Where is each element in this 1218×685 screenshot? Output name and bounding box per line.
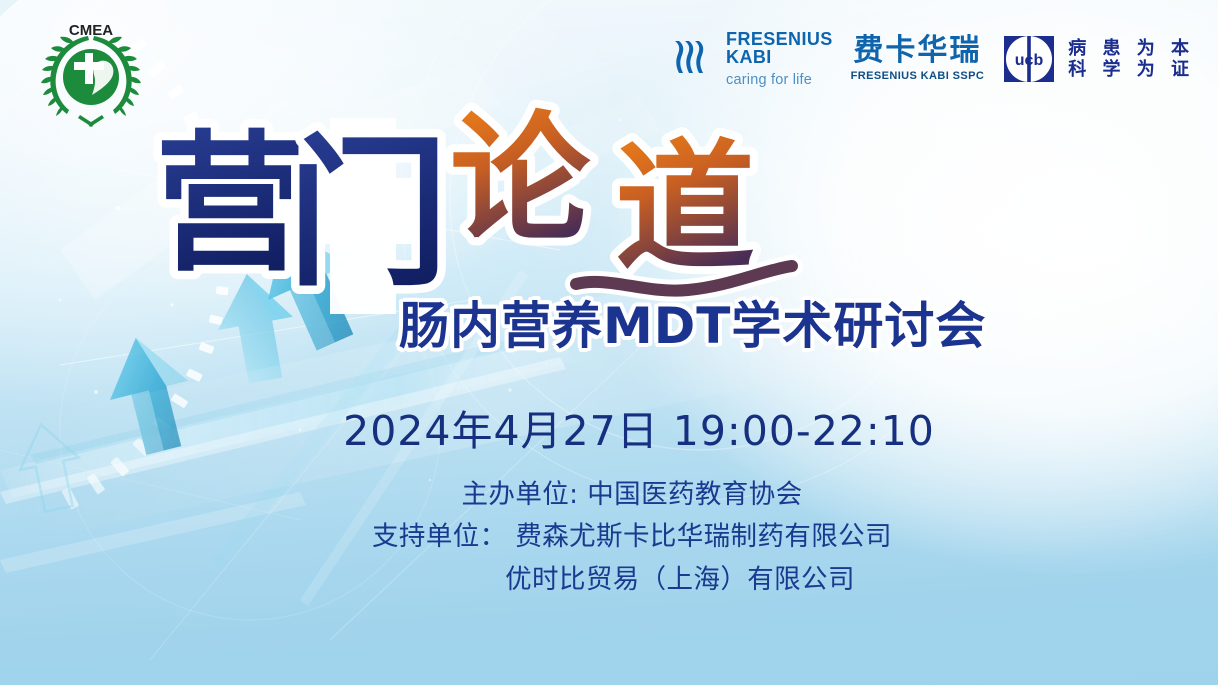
calli-char-1: 营	[155, 116, 305, 292]
calli-char-2: 门	[287, 119, 449, 309]
sponsor-logos: FRESENIUS KABI caring for life 费卡华瑞 FRES…	[673, 28, 1194, 90]
kabi-sspc-name-cn: 费卡华瑞	[853, 36, 981, 66]
ucb-slogan-line2: 科 学 为 证	[1068, 59, 1194, 80]
event-subtitle: 肠内营养MDT学术研讨会	[399, 286, 986, 358]
kabi-sspc-name-en: FRESENIUS KABI SSPC	[851, 71, 985, 82]
organizer-line-2: 支持单位： 费森尤斯卡比华瑞制药有限公司	[46, 516, 1218, 558]
sponsor-ucb: ucb 病 患 为 本 科 学 为 证	[1002, 32, 1194, 86]
calli-char-4: 道	[615, 126, 755, 290]
sponsor-fresenius-kabi-sspc: 费卡华瑞 FRESENIUS KABI SSPC	[851, 36, 985, 82]
ucb-logo-icon: ucb	[1002, 32, 1056, 86]
cmea-acronym: CMEA	[69, 22, 113, 39]
organizer-line-3: 优时比贸易（上海）有限公司	[46, 559, 1218, 601]
cmea-logo-graphic: CMEA	[36, 22, 146, 127]
ucb-mark-text: ucb	[1015, 52, 1044, 69]
fresenius-wave-icon	[673, 37, 717, 81]
fresenius-name-line1: FRESENIUS	[726, 30, 833, 48]
cmea-logo: CMEA	[36, 22, 146, 127]
event-datetime: 2024年4月27日 19:00-22:10	[0, 397, 1218, 457]
fresenius-name-line2: KABI	[726, 48, 833, 66]
calli-char-3: 论	[450, 98, 591, 262]
ucb-slogan-line1: 病 患 为 本	[1068, 38, 1194, 59]
fresenius-tagline: caring for life	[726, 73, 833, 88]
organizers-block: 主办单位: 中国医药教育协会 支持单位： 费森尤斯卡比华瑞制药有限公司 优时比贸…	[0, 474, 1218, 601]
sponsor-fresenius-kabi: FRESENIUS KABI caring for life	[673, 30, 833, 88]
event-poster: CMEA FRESENIUS KABI caring for life 费卡华瑞	[0, 0, 1218, 685]
organizer-line-1: 主办单位: 中国医药教育协会	[46, 474, 1218, 516]
